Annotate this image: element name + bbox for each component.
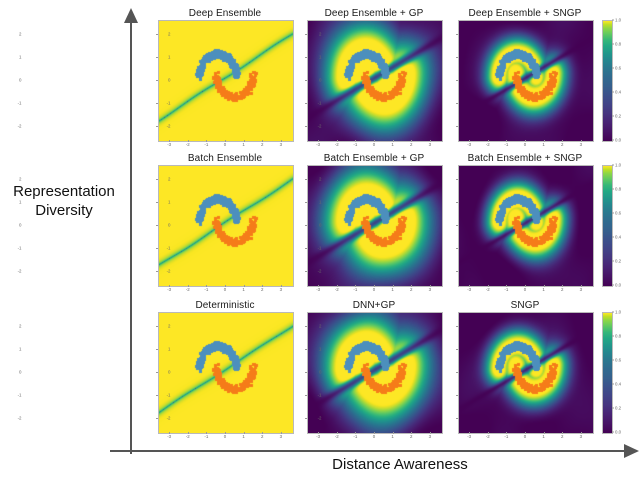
distance-awareness-axis <box>110 450 628 452</box>
xtick-label-deep-ensemble-sngp-0: -3 <box>467 142 471 147</box>
panel-title-sngp: SNGP <box>432 300 618 311</box>
ytick-mark <box>156 202 158 203</box>
ytick-mark <box>156 372 158 373</box>
ytick-label-deterministic-4: 2 <box>19 323 21 328</box>
colorbar-tick-mark <box>612 213 614 214</box>
colorbar-tick-mark <box>612 408 614 409</box>
xtick-label-deterministic-0: -3 <box>167 434 171 439</box>
xtick-label-batch-ensemble-sngp-1: -2 <box>486 287 490 292</box>
xtick-label-sngp-6: 3 <box>580 434 582 439</box>
xtick-label-dnn-gp-6: 3 <box>429 434 431 439</box>
ytick-label-deep-ensemble-1: -1 <box>18 101 22 106</box>
colorbar-tick-label-sngp-4: 0.8 <box>615 334 621 339</box>
xtick-label-deep-ensemble-sngp-3: 0 <box>524 142 526 147</box>
xtick-label-batch-ensemble-6: 3 <box>280 287 282 292</box>
ytick-mark <box>305 103 307 104</box>
ytick-label-dnn-gp-0: -2 <box>167 416 171 421</box>
x-axis-label: Distance Awareness <box>250 456 550 473</box>
xtick-label-batch-ensemble-3: 0 <box>224 287 226 292</box>
ytick-mark <box>156 248 158 249</box>
plot-area-deterministic <box>158 312 294 434</box>
ytick-mark <box>456 349 458 350</box>
ytick-label-batch-ensemble-2: 0 <box>19 223 21 228</box>
xtick-label-deterministic-1: -2 <box>186 434 190 439</box>
ytick-mark <box>456 326 458 327</box>
ytick-label-batch-ensemble-4: 2 <box>19 176 21 181</box>
xtick-label-deterministic-4: 1 <box>242 434 244 439</box>
colorbar-tick-label-sngp-3: 0.6 <box>615 358 621 363</box>
xtick-label-batch-ensemble-gp-0: -3 <box>316 287 320 292</box>
ytick-mark <box>305 126 307 127</box>
ytick-label-deep-ensemble-sngp-1: -1 <box>318 101 322 106</box>
panel-title-batch-ensemble-sngp: Batch Ensemble + SNGP <box>432 153 618 164</box>
ytick-mark <box>305 179 307 180</box>
ytick-label-dnn-gp-1: -1 <box>167 393 171 398</box>
ytick-mark <box>456 271 458 272</box>
ytick-label-deterministic-1: -1 <box>18 393 22 398</box>
ytick-label-deep-ensemble-4: 2 <box>19 31 21 36</box>
xtick-label-batch-ensemble-0: -3 <box>167 287 171 292</box>
plot-area-deep-ensemble-sngp <box>458 20 594 142</box>
colorbar-tick-label-deep-ensemble-sngp-4: 0.8 <box>615 42 621 47</box>
colorbar-tick-mark <box>612 92 614 93</box>
xtick-label-deterministic-3: 0 <box>224 434 226 439</box>
colorbar-tick-label-deep-ensemble-sngp-2: 0.4 <box>615 90 621 95</box>
colorbar-deep-ensemble-sngp <box>602 20 613 142</box>
xtick-label-batch-ensemble-gp-2: -1 <box>353 287 357 292</box>
plot-area-batch-ensemble <box>158 165 294 287</box>
xtick-label-deterministic-5: 2 <box>261 434 263 439</box>
xtick-label-batch-ensemble-sngp-5: 2 <box>561 287 563 292</box>
colorbar-tick-label-batch-ensemble-sngp-1: 0.2 <box>615 259 621 264</box>
ytick-label-batch-ensemble-0: -2 <box>18 269 22 274</box>
ytick-label-batch-ensemble-gp-1: -1 <box>167 246 171 251</box>
xtick-label-deep-ensemble-gp-0: -3 <box>316 142 320 147</box>
ytick-label-deep-ensemble-sngp-2: 0 <box>319 78 321 83</box>
ytick-label-deep-ensemble-gp-3: 1 <box>168 54 170 59</box>
xtick-label-deep-ensemble-sngp-2: -1 <box>504 142 508 147</box>
xtick-label-sngp-3: 0 <box>524 434 526 439</box>
ytick-mark <box>456 372 458 373</box>
ytick-label-sngp-1: -1 <box>318 393 322 398</box>
xtick-label-batch-ensemble-sngp-3: 0 <box>524 287 526 292</box>
uncertainty-heatmap-deterministic <box>159 313 293 433</box>
plot-area-dnn-gp <box>307 312 443 434</box>
ytick-label-deep-ensemble-0: -2 <box>18 124 22 129</box>
uncertainty-heatmap-sngp <box>459 313 593 433</box>
xtick-label-deep-ensemble-0: -3 <box>167 142 171 147</box>
plot-area-deep-ensemble-gp <box>307 20 443 142</box>
plot-area-deep-ensemble <box>158 20 294 142</box>
ytick-mark <box>156 225 158 226</box>
ytick-mark <box>456 418 458 419</box>
xtick-label-batch-ensemble-sngp-2: -1 <box>504 287 508 292</box>
ytick-mark <box>156 349 158 350</box>
xtick-label-dnn-gp-3: 0 <box>373 434 375 439</box>
xtick-label-sngp-4: 1 <box>542 434 544 439</box>
colorbar-tick-mark <box>612 336 614 337</box>
ytick-label-batch-ensemble-sngp-3: 1 <box>319 199 321 204</box>
ytick-label-deep-ensemble-sngp-0: -2 <box>318 124 322 129</box>
ytick-mark <box>156 271 158 272</box>
ytick-label-sngp-2: 0 <box>319 370 321 375</box>
ytick-mark <box>156 326 158 327</box>
colorbar-tick-mark <box>612 261 614 262</box>
ytick-mark <box>305 80 307 81</box>
xtick-label-batch-ensemble-4: 1 <box>242 287 244 292</box>
xtick-label-deep-ensemble-gp-4: 1 <box>391 142 393 147</box>
colorbar-tick-label-deep-ensemble-sngp-1: 0.2 <box>615 114 621 119</box>
uncertainty-heatmap-batch-ensemble-gp <box>308 166 442 286</box>
colorbar-batch-ensemble-sngp <box>602 165 613 287</box>
colorbar-tick-label-sngp-5: 1.0 <box>615 310 621 315</box>
xtick-label-batch-ensemble-gp-1: -2 <box>335 287 339 292</box>
ytick-mark <box>305 395 307 396</box>
xtick-label-dnn-gp-0: -3 <box>316 434 320 439</box>
xtick-label-deep-ensemble-gp-3: 0 <box>373 142 375 147</box>
xtick-label-sngp-2: -1 <box>504 434 508 439</box>
colorbar-tick-mark <box>612 116 614 117</box>
ytick-label-deep-ensemble-sngp-3: 1 <box>319 54 321 59</box>
xtick-label-deep-ensemble-5: 2 <box>261 142 263 147</box>
colorbar-tick-label-deep-ensemble-sngp-5: 1.0 <box>615 18 621 23</box>
ytick-label-deep-ensemble-gp-1: -1 <box>167 101 171 106</box>
xtick-label-batch-ensemble-sngp-0: -3 <box>467 287 471 292</box>
ytick-mark <box>156 126 158 127</box>
y-axis-label-line1: Representation <box>2 182 126 201</box>
ytick-label-deep-ensemble-gp-0: -2 <box>167 124 171 129</box>
xtick-label-dnn-gp-5: 2 <box>410 434 412 439</box>
xtick-label-deterministic-6: 3 <box>280 434 282 439</box>
colorbar-tick-mark <box>612 68 614 69</box>
ytick-mark <box>305 34 307 35</box>
ytick-label-sngp-3: 1 <box>319 346 321 351</box>
ytick-mark <box>156 395 158 396</box>
ytick-label-deep-ensemble-3: 1 <box>19 54 21 59</box>
ytick-mark <box>456 80 458 81</box>
ytick-mark <box>156 34 158 35</box>
colorbar-tick-mark <box>612 165 614 166</box>
colorbar-tick-mark <box>612 384 614 385</box>
ytick-label-deterministic-0: -2 <box>18 416 22 421</box>
colorbar-tick-mark <box>612 140 614 141</box>
ytick-mark <box>156 80 158 81</box>
ytick-label-dnn-gp-2: 0 <box>168 370 170 375</box>
xtick-label-batch-ensemble-sngp-4: 1 <box>542 287 544 292</box>
plot-area-batch-ensemble-sngp <box>458 165 594 287</box>
xtick-label-batch-ensemble-gp-6: 3 <box>429 287 431 292</box>
ytick-label-batch-ensemble-gp-3: 1 <box>168 199 170 204</box>
xtick-label-sngp-1: -2 <box>486 434 490 439</box>
ytick-mark <box>305 225 307 226</box>
ytick-label-deep-ensemble-sngp-4: 2 <box>319 31 321 36</box>
ytick-label-batch-ensemble-gp-2: 0 <box>168 223 170 228</box>
colorbar-tick-mark <box>612 189 614 190</box>
xtick-label-deep-ensemble-4: 1 <box>242 142 244 147</box>
ytick-mark <box>456 179 458 180</box>
plot-area-batch-ensemble-gp <box>307 165 443 287</box>
ytick-label-batch-ensemble-1: -1 <box>18 246 22 251</box>
xtick-label-batch-ensemble-2: -1 <box>204 287 208 292</box>
ytick-label-deterministic-3: 1 <box>19 346 21 351</box>
xtick-label-batch-ensemble-gp-3: 0 <box>373 287 375 292</box>
ytick-label-batch-ensemble-gp-0: -2 <box>167 269 171 274</box>
ytick-mark <box>456 225 458 226</box>
ytick-mark <box>456 34 458 35</box>
ytick-label-deterministic-2: 0 <box>19 370 21 375</box>
figure-canvas: Representation Diversity Distance Awaren… <box>0 0 640 478</box>
ytick-mark <box>305 372 307 373</box>
xtick-label-sngp-5: 2 <box>561 434 563 439</box>
xtick-label-deep-ensemble-sngp-1: -2 <box>486 142 490 147</box>
xtick-label-deep-ensemble-gp-5: 2 <box>410 142 412 147</box>
xtick-label-deep-ensemble-gp-6: 3 <box>429 142 431 147</box>
ytick-mark <box>305 349 307 350</box>
panel-title-deep-ensemble-sngp: Deep Ensemble + SNGP <box>432 8 618 19</box>
colorbar-tick-mark <box>612 237 614 238</box>
uncertainty-heatmap-dnn-gp <box>308 313 442 433</box>
colorbar-tick-label-sngp-1: 0.2 <box>615 406 621 411</box>
uncertainty-heatmap-deep-ensemble-sngp <box>459 21 593 141</box>
ytick-label-dnn-gp-4: 2 <box>168 323 170 328</box>
ytick-label-batch-ensemble-3: 1 <box>19 199 21 204</box>
colorbar-tick-mark <box>612 44 614 45</box>
ytick-label-dnn-gp-3: 1 <box>168 346 170 351</box>
ytick-mark <box>456 103 458 104</box>
ytick-label-batch-ensemble-sngp-1: -1 <box>318 246 322 251</box>
xtick-label-deep-ensemble-gp-2: -1 <box>353 142 357 147</box>
ytick-label-batch-ensemble-sngp-4: 2 <box>319 176 321 181</box>
uncertainty-heatmap-batch-ensemble-sngp <box>459 166 593 286</box>
xtick-label-batch-ensemble-gp-5: 2 <box>410 287 412 292</box>
ytick-mark <box>456 57 458 58</box>
colorbar-tick-mark <box>612 312 614 313</box>
colorbar-tick-label-batch-ensemble-sngp-3: 0.6 <box>615 211 621 216</box>
ytick-label-deep-ensemble-2: 0 <box>19 78 21 83</box>
ytick-mark <box>156 418 158 419</box>
ytick-mark <box>305 202 307 203</box>
xtick-label-deep-ensemble-sngp-5: 2 <box>561 142 563 147</box>
xtick-label-batch-ensemble-gp-4: 1 <box>391 287 393 292</box>
ytick-label-batch-ensemble-gp-4: 2 <box>168 176 170 181</box>
ytick-mark <box>456 248 458 249</box>
ytick-mark <box>305 57 307 58</box>
xtick-label-dnn-gp-4: 1 <box>391 434 393 439</box>
xtick-label-deep-ensemble-sngp-6: 3 <box>580 142 582 147</box>
ytick-mark <box>456 202 458 203</box>
ytick-mark <box>305 326 307 327</box>
colorbar-tick-mark <box>612 360 614 361</box>
ytick-label-deep-ensemble-gp-4: 2 <box>168 31 170 36</box>
ytick-label-batch-ensemble-sngp-2: 0 <box>319 223 321 228</box>
ytick-mark <box>156 57 158 58</box>
xtick-label-deep-ensemble-2: -1 <box>204 142 208 147</box>
ytick-label-batch-ensemble-sngp-0: -2 <box>318 269 322 274</box>
colorbar-tick-mark <box>612 285 614 286</box>
xtick-label-dnn-gp-2: -1 <box>353 434 357 439</box>
representation-diversity-axis <box>130 22 132 454</box>
colorbar-tick-label-batch-ensemble-sngp-2: 0.4 <box>615 235 621 240</box>
ytick-label-sngp-0: -2 <box>318 416 322 421</box>
xtick-label-deep-ensemble-sngp-4: 1 <box>542 142 544 147</box>
xtick-label-sngp-0: -3 <box>467 434 471 439</box>
xtick-label-deep-ensemble-gp-1: -2 <box>335 142 339 147</box>
ytick-mark <box>156 179 158 180</box>
colorbar-tick-label-sngp-0: 0.0 <box>615 430 621 435</box>
xtick-label-batch-ensemble-sngp-6: 3 <box>580 287 582 292</box>
xtick-label-deep-ensemble-6: 3 <box>280 142 282 147</box>
plot-area-sngp <box>458 312 594 434</box>
colorbar-tick-mark <box>612 432 614 433</box>
colorbar-tick-label-batch-ensemble-sngp-0: 0.0 <box>615 283 621 288</box>
colorbar-tick-label-batch-ensemble-sngp-5: 1.0 <box>615 163 621 168</box>
colorbar-tick-label-deep-ensemble-sngp-0: 0.0 <box>615 138 621 143</box>
xtick-label-batch-ensemble-5: 2 <box>261 287 263 292</box>
uncertainty-heatmap-batch-ensemble <box>159 166 293 286</box>
xtick-label-deep-ensemble-1: -2 <box>186 142 190 147</box>
colorbar-tick-mark <box>612 20 614 21</box>
ytick-label-deep-ensemble-gp-2: 0 <box>168 78 170 83</box>
colorbar-tick-label-batch-ensemble-sngp-4: 0.8 <box>615 187 621 192</box>
xtick-label-deep-ensemble-3: 0 <box>224 142 226 147</box>
colorbar-sngp <box>602 312 613 434</box>
ytick-mark <box>305 271 307 272</box>
ytick-mark <box>456 126 458 127</box>
colorbar-tick-label-deep-ensemble-sngp-3: 0.6 <box>615 66 621 71</box>
x-axis-arrow-icon <box>624 444 639 458</box>
ytick-mark <box>305 248 307 249</box>
xtick-label-dnn-gp-1: -2 <box>335 434 339 439</box>
uncertainty-heatmap-deep-ensemble <box>159 21 293 141</box>
xtick-label-deterministic-2: -1 <box>204 434 208 439</box>
uncertainty-heatmap-deep-ensemble-gp <box>308 21 442 141</box>
ytick-label-sngp-4: 2 <box>319 323 321 328</box>
xtick-label-batch-ensemble-1: -2 <box>186 287 190 292</box>
colorbar-tick-label-sngp-2: 0.4 <box>615 382 621 387</box>
ytick-mark <box>456 395 458 396</box>
ytick-mark <box>305 418 307 419</box>
ytick-mark <box>156 103 158 104</box>
